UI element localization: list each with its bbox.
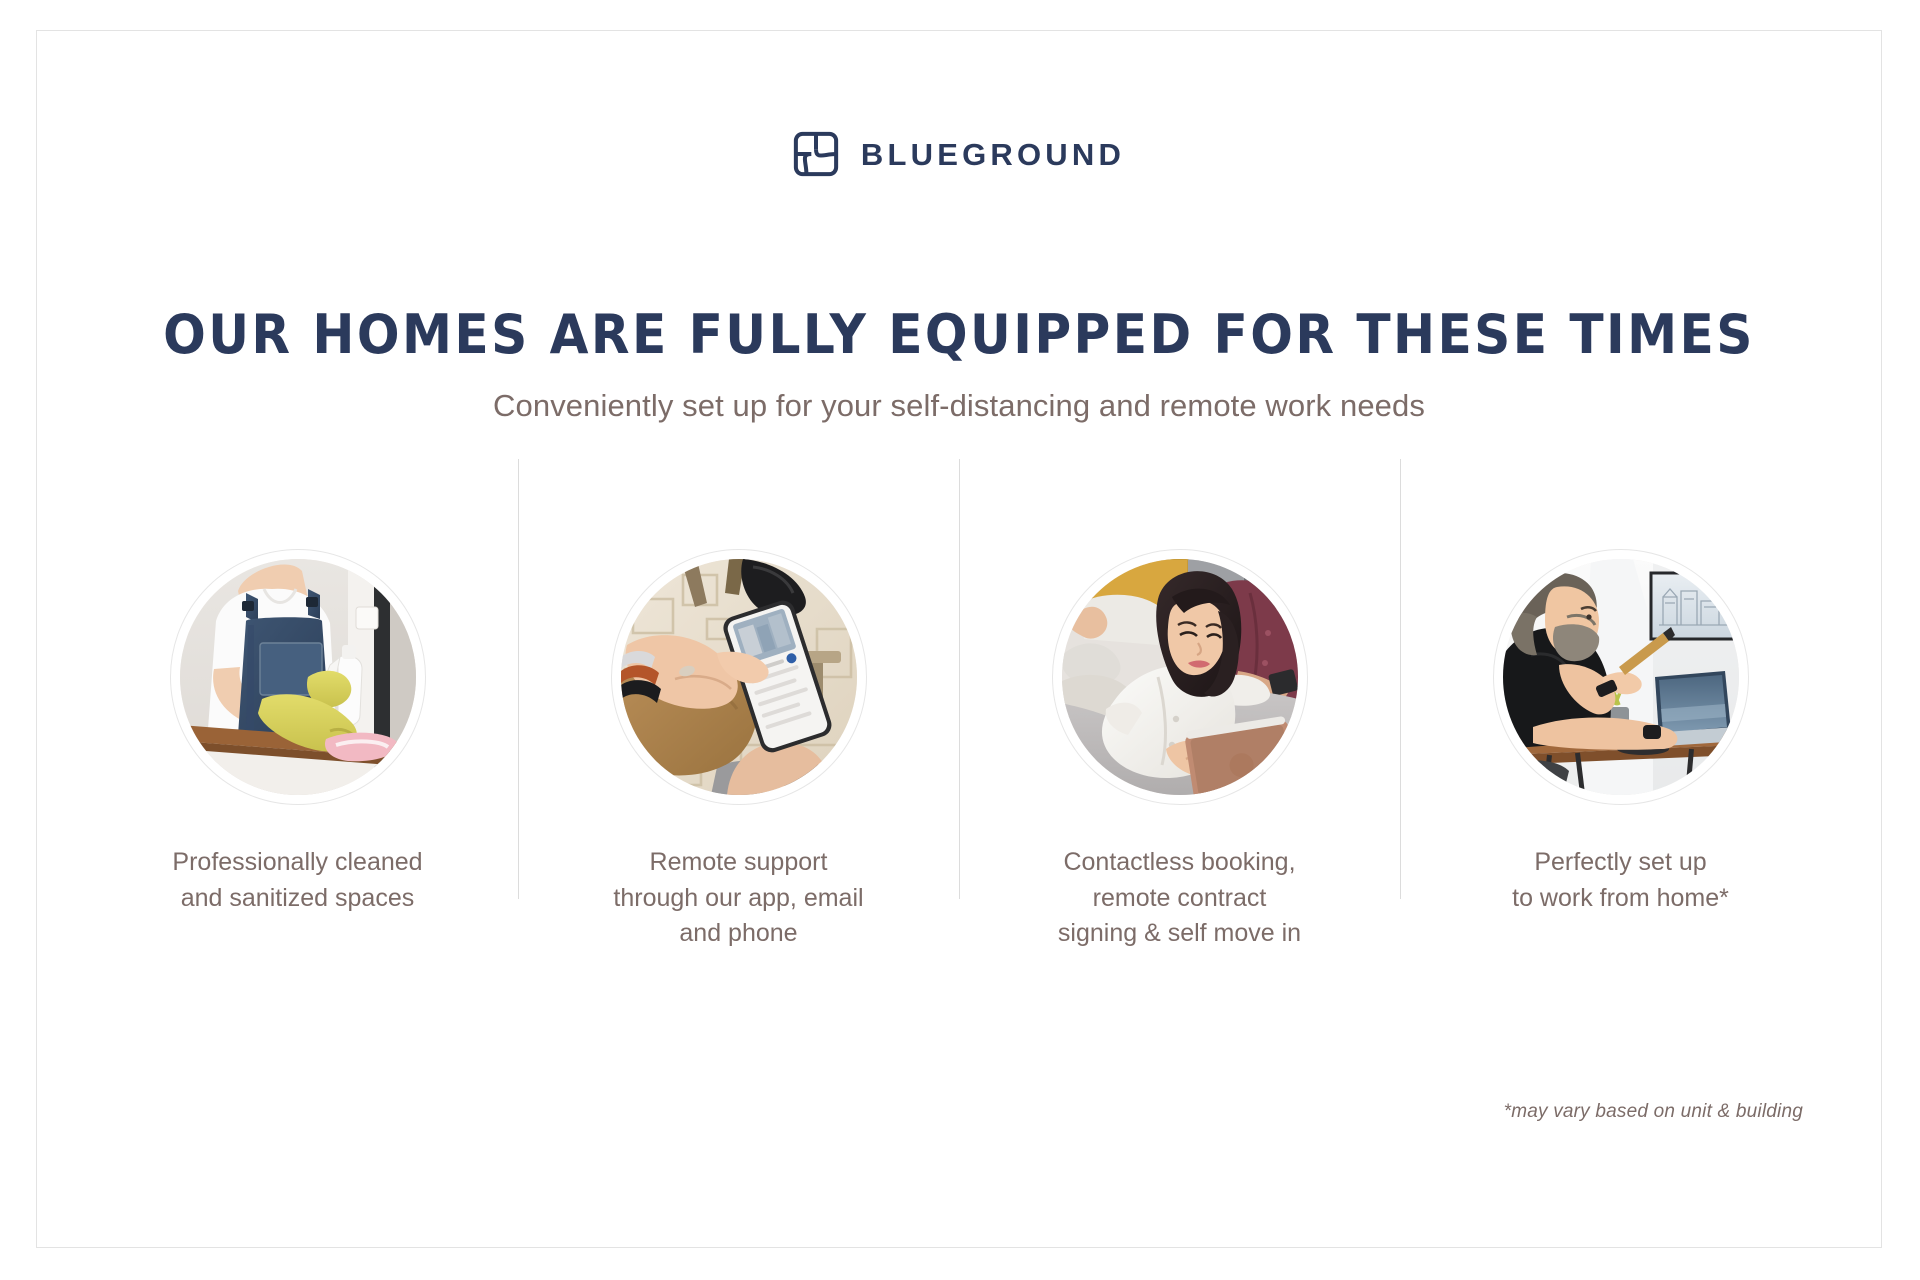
- feature-column-work-from-home: Perfectly set up to work from home*: [1400, 549, 1841, 989]
- photo-ring: [611, 549, 867, 805]
- blueground-square-mark-icon: [793, 131, 839, 177]
- feature-caption: Professionally cleaned and sanitized spa…: [172, 845, 422, 916]
- feature-column-contactless-booking: Contactless booking, remote contract sig…: [959, 549, 1400, 989]
- brand-logo: BLUEGROUND: [37, 131, 1881, 177]
- page-title: OUR HOMES ARE FULLY EQUIPPED FOR THESE T…: [102, 307, 1817, 364]
- photo-work-from-home-desk: [1503, 559, 1739, 795]
- page-subtitle: Conveniently set up for your self-distan…: [37, 386, 1881, 426]
- photo-ring: [1052, 549, 1308, 805]
- photo-tablet-on-bed: [1062, 559, 1298, 795]
- feature-caption: Perfectly set up to work from home*: [1512, 845, 1729, 916]
- feature-caption: Remote support through our app, email an…: [613, 845, 863, 952]
- brand-wordmark: BLUEGROUND: [861, 139, 1125, 170]
- feature-column-remote-support: Remote support through our app, email an…: [518, 549, 959, 989]
- photo-phone-app: [621, 559, 857, 795]
- feature-caption: Contactless booking, remote contract sig…: [1058, 845, 1301, 952]
- footnote: *may vary based on unit & building: [1504, 1101, 1803, 1123]
- page-frame: BLUEGROUND OUR HOMES ARE FULLY EQUIPPED …: [36, 30, 1882, 1248]
- photo-ring: [1493, 549, 1749, 805]
- photo-ring: [170, 549, 426, 805]
- feature-columns: Professionally cleaned and sanitized spa…: [77, 549, 1841, 989]
- feature-column-cleaning: Professionally cleaned and sanitized spa…: [77, 549, 518, 989]
- photo-cleaning-person: [180, 559, 416, 795]
